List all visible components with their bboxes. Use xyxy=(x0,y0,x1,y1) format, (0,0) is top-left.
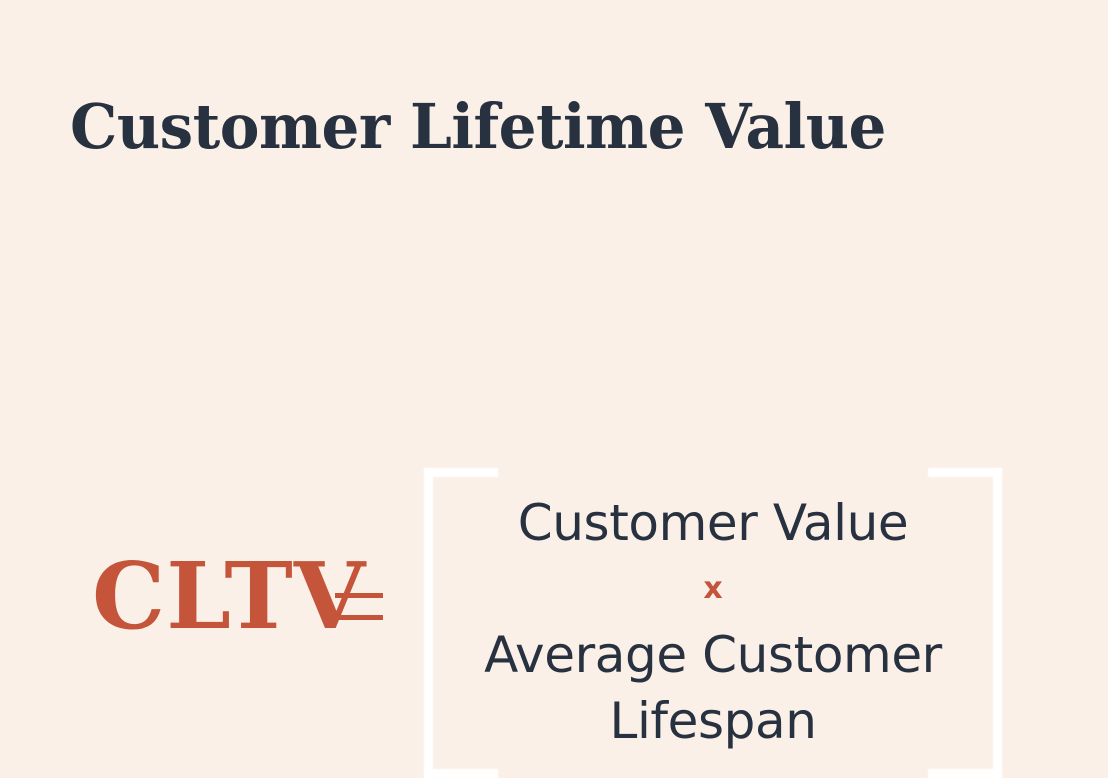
formula-term-customer-value: Customer Value xyxy=(518,490,908,556)
left-bracket-bottom-arm xyxy=(424,769,498,778)
formula-multiply-operator: x xyxy=(703,558,722,620)
formula-term-lifespan: Lifespan xyxy=(609,688,816,754)
formula-term-average-customer: Average Customer xyxy=(484,622,942,688)
cltv-acronym: CLTV xyxy=(92,550,366,642)
formula-region: CLTV Customer Value x Average Customer L… xyxy=(0,230,1108,560)
right-bracket-bottom-arm xyxy=(928,769,1002,778)
left-bracket-top-arm xyxy=(424,468,498,477)
equals-bar-bottom xyxy=(335,615,383,620)
page-title: Customer Lifetime Value xyxy=(70,94,886,159)
equals-sign-icon xyxy=(335,585,383,631)
right-bracket-top-arm xyxy=(928,468,1002,477)
equals-bar-top xyxy=(335,593,383,598)
infographic-canvas: Customer Lifetime Value CLTV Customer Va… xyxy=(0,0,1108,650)
formula-text-stack: Customer Value x Average Customer Lifesp… xyxy=(432,482,994,764)
right-bracket-vertical xyxy=(993,468,1002,778)
